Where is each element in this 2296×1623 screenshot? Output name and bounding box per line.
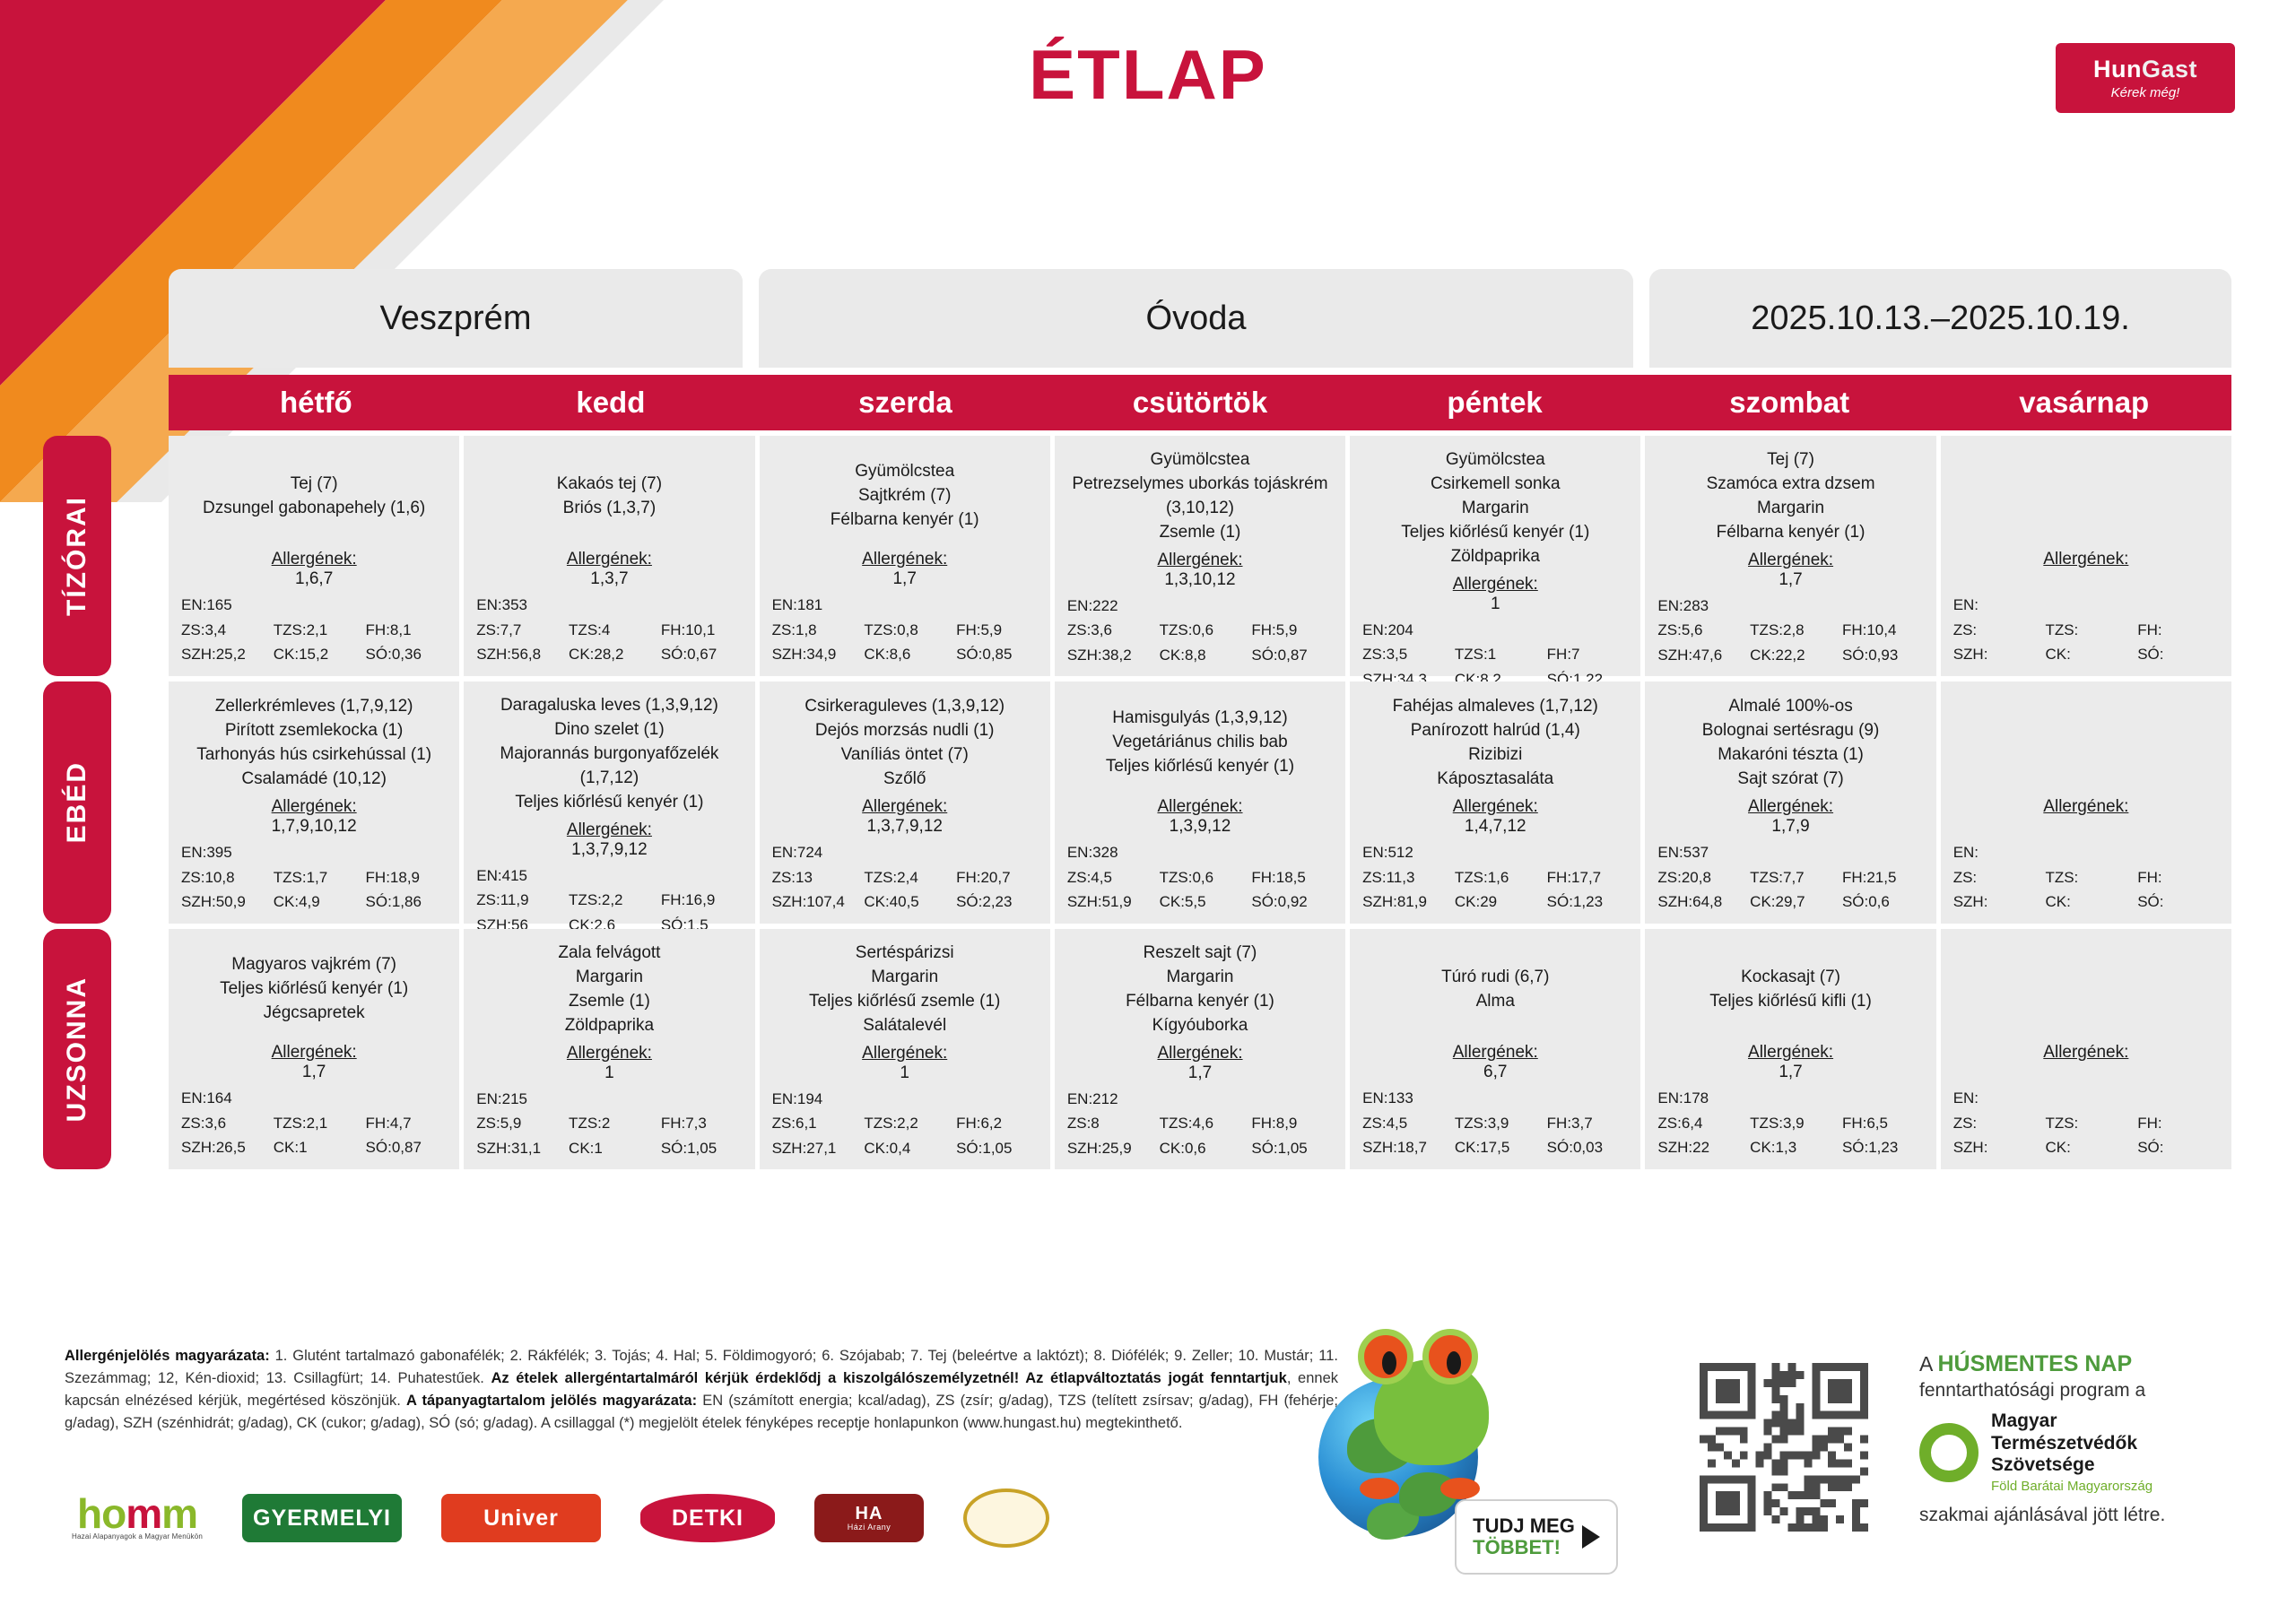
allergen-values: 1,3,7 — [471, 569, 747, 589]
food-items: Zala felvágottMargarinZsemle (1)Zöldpapr… — [471, 942, 747, 1044]
food-item: Almalé 100%-os — [1728, 695, 1852, 719]
food-items: Tej (7)Szamóca extra dzsemMargarinFélbar… — [1652, 448, 1928, 551]
food-item: Dino szelet (1) — [554, 718, 665, 742]
nutrition-values: EN:537ZS:20,8TZS:7,7FH:21,5SZH:64,8CK:29… — [1652, 840, 1928, 915]
nutrition-zs: ZS:3,6 — [176, 1111, 268, 1136]
nutrition-fh: FH:7 — [1542, 642, 1634, 667]
food-item: Teljes kiőrlésű kenyér (1) — [1106, 755, 1294, 779]
allergen-label: Allergének: — [1357, 797, 1633, 817]
allergen-label: Allergének: — [1652, 797, 1928, 817]
meal-row-uzsonna: UZSONNAMagyaros vajkrém (7)Teljes kiőrlé… — [169, 929, 2231, 1169]
mtvsz-subtitle: Föld Barátai Magyarország — [1991, 1479, 2152, 1494]
menu-cell: SertéspárizsiMargarinTeljes kiőrlésű zse… — [760, 929, 1050, 1169]
nutrition-zs: ZS: — [1948, 1111, 2040, 1136]
nutrition-szh: SZH:38,2 — [1062, 643, 1154, 668]
nutrition-values: EN:165ZS:3,4TZS:2,1FH:8,1SZH:25,2CK:15,2… — [176, 593, 452, 667]
nutrition-en: EN: — [1948, 1086, 2224, 1111]
nutrition-ck: CK:1 — [268, 1135, 361, 1160]
food-item: Tej (7) — [1767, 448, 1814, 473]
nutrition-tzs: TZS:1,7 — [268, 865, 361, 890]
nutrition-tzs: TZS: — [2039, 618, 2132, 643]
nutrition-en: EN:212 — [1062, 1087, 1338, 1112]
nutrition-values: EN:178ZS:6,4TZS:3,9FH:6,5SZH:22CK:1,3SÓ:… — [1652, 1086, 1928, 1160]
nutrition-tzs: TZS:1 — [1449, 642, 1542, 667]
nutrition-ck: CK:1,3 — [1744, 1135, 1837, 1160]
allergen-values — [1948, 569, 2224, 589]
nutrition-tzs: TZS:2,2 — [563, 888, 656, 913]
food-items: Túró rudi (6,7)Alma — [1357, 942, 1633, 1043]
food-items: Hamisgulyás (1,3,9,12)Vegetáriánus chili… — [1062, 694, 1338, 797]
nutrition-zs: ZS: — [1948, 865, 2040, 890]
day-header-0: hétfő — [169, 375, 464, 430]
food-item: Teljes kiőrlésű kenyér (1) — [1401, 521, 1589, 545]
allergen-info: Allergének:1,3,7,9,12 — [471, 820, 747, 860]
allergen-values: 1,3,7,9,12 — [471, 840, 747, 860]
allergen-info: Allergének:1,7 — [176, 1043, 452, 1082]
meal-row-label-0: TÍZÓRAI — [43, 436, 111, 676]
food-item: Káposztasaláta — [1437, 768, 1553, 792]
nutrition-ck: CK:4,9 — [268, 890, 361, 915]
food-items: GyümölcsteaSajtkrém (7)Félbarna kenyér (… — [767, 448, 1043, 550]
nutrition-ck: CK:0,6 — [1154, 1136, 1247, 1161]
nutrition-tzs: TZS:0,8 — [858, 618, 951, 643]
nutrition-fh: FH:3,7 — [1542, 1111, 1634, 1136]
menu-cell: GyümölcsteaSajtkrém (7)Félbarna kenyér (… — [760, 436, 1050, 676]
food-item: Margarin — [1757, 497, 1824, 521]
hazi-arany-logo: HAHázi Arany — [814, 1494, 924, 1542]
nutrition-szh: SZH: — [1948, 642, 2040, 667]
nutrition-ck: CK:1 — [563, 1136, 656, 1161]
food-items: GyümölcsteaCsirkemell sonkaMargarinTelje… — [1357, 448, 1633, 575]
allergen-values: 1,3,9,12 — [1062, 817, 1338, 837]
allergen-values: 1,7 — [767, 569, 1043, 589]
food-items — [1948, 694, 2224, 797]
food-item: (3,10,12) — [1166, 497, 1234, 521]
nutrition-en: EN:181 — [767, 593, 1043, 618]
nutrition-ck: CK:40,5 — [858, 890, 951, 915]
nutrition-tzs: TZS:7,7 — [1744, 865, 1837, 890]
nutrition-szh: SZH:47,6 — [1652, 643, 1744, 668]
nutrition-fh: FH:7,3 — [656, 1111, 748, 1136]
allergen-info: Allergének:1,3,7,9,12 — [767, 797, 1043, 837]
nutrition-so: SÓ:0,6 — [1837, 890, 1929, 915]
allergen-values: 1,7,9,10,12 — [176, 817, 452, 837]
food-item: Gyümölcstea — [1446, 448, 1545, 473]
nutrition-values: EN:164ZS:3,6TZS:2,1FH:4,7SZH:26,5CK:1SÓ:… — [176, 1086, 452, 1160]
nutrition-so: SÓ:2,23 — [951, 890, 1043, 915]
nutrition-zs: ZS:8 — [1062, 1111, 1154, 1136]
nutrition-szh: SZH: — [1948, 890, 2040, 915]
allergen-info: Allergének:1,3,9,12 — [1062, 797, 1338, 837]
food-item: Dejós morzsás nudli (1) — [815, 719, 995, 743]
food-item: Csalamádé (10,12) — [241, 768, 387, 792]
allergen-label: Allergének: — [1062, 551, 1338, 570]
nutrition-ck: CK:8,8 — [1154, 643, 1247, 668]
nutrition-szh: SZH:64,8 — [1652, 890, 1744, 915]
ring-icon — [1919, 1423, 1979, 1482]
nutrition-szh: SZH:81,9 — [1357, 890, 1449, 915]
nutrition-values: EN:328ZS:4,5TZS:0,6FH:18,5SZH:51,9CK:5,5… — [1062, 840, 1338, 915]
mtvsz-name-line: Magyar — [1991, 1410, 2152, 1432]
nutrition-fh: FH: — [2132, 865, 2224, 890]
page-title: ÉTLAP — [0, 34, 2296, 116]
nutrition-szh: SZH:27,1 — [767, 1136, 859, 1161]
nutrition-fh: FH:21,5 — [1837, 865, 1929, 890]
nutrition-tzs: TZS:2,1 — [268, 618, 361, 643]
nutrition-en: EN:164 — [176, 1086, 452, 1111]
nutrition-fh: FH:5,9 — [951, 618, 1043, 643]
day-header-4: péntek — [1347, 375, 1642, 430]
food-item: Félbarna kenyér (1) — [1126, 990, 1274, 1014]
nutrition-so: SÓ: — [2132, 1135, 2224, 1160]
nutrition-zs: ZS:6,4 — [1652, 1111, 1744, 1136]
allergen-label: Allergének: — [1652, 1043, 1928, 1063]
nutrition-zs: ZS:3,4 — [176, 618, 268, 643]
allergen-label: Allergének: — [471, 1044, 747, 1063]
food-item: Sajtkrém (7) — [858, 484, 951, 508]
food-item: Zsemle (1) — [1160, 521, 1241, 545]
nutrition-so: SÓ:1,05 — [656, 1136, 748, 1161]
hungast-logo: HunGast Kérek még! — [2056, 43, 2235, 113]
food-item: Reszelt sajt (7) — [1144, 942, 1257, 966]
allergen-values: 1,4,7,12 — [1357, 817, 1633, 837]
nutrition-zs: ZS: — [1948, 618, 2040, 643]
day-header-6: vasárnap — [1936, 375, 2231, 430]
allergen-info: Allergének:1 — [1357, 575, 1633, 614]
menu-cell: Zellerkrémleves (1,7,9,12)Pirított zseml… — [169, 681, 459, 924]
food-item: Petrezselymes uborkás tojáskrém — [1072, 473, 1327, 497]
food-item: Alma — [1476, 990, 1515, 1014]
food-item: Teljes kiőrlésű kifli (1) — [1709, 990, 1872, 1014]
legend-nutrition-title: A tápanyagtartalom jelölés magyarázata: — [406, 1393, 697, 1409]
univer-logo: Univer — [441, 1494, 601, 1542]
food-item: Margarin — [576, 966, 643, 990]
learn-more-button[interactable]: TUDJ MEG TÖBBET! — [1455, 1499, 1618, 1575]
meatfree-title: A HÚSMENTES NAP — [1919, 1350, 2269, 1378]
meatfree-subtitle: fenntarthatósági program a — [1919, 1380, 2269, 1402]
allergen-info: Allergének:1 — [471, 1044, 747, 1083]
nutrition-en: EN:512 — [1357, 840, 1633, 865]
food-item: Csirkemell sonka — [1431, 473, 1561, 497]
food-item: Panírozott halrúd (1,4) — [1411, 719, 1580, 743]
food-item: Zellerkrémleves (1,7,9,12) — [215, 695, 413, 719]
nutrition-fh: FH:20,7 — [951, 865, 1043, 890]
nutrition-zs: ZS:10,8 — [176, 865, 268, 890]
food-item: Szőlő — [883, 768, 926, 792]
nutrition-ck: CK:28,2 — [563, 642, 656, 667]
menu-cell: Hamisgulyás (1,3,9,12)Vegetáriánus chili… — [1055, 681, 1345, 924]
allergen-values: 1 — [1357, 595, 1633, 614]
allergen-info: Allergének: — [1948, 1043, 2224, 1082]
nutrition-fh: FH:8,1 — [361, 618, 453, 643]
nutrition-fh: FH:6,2 — [951, 1111, 1043, 1136]
day-header-row: hétfőkeddszerdacsütörtökpéntekszombatvas… — [169, 375, 2231, 430]
day-header-2: szerda — [758, 375, 1053, 430]
menu-cell: Tej (7)Szamóca extra dzsemMargarinFélbar… — [1645, 436, 1935, 676]
nutrition-ck: CK:17,5 — [1449, 1135, 1542, 1160]
nutrition-en: EN:204 — [1357, 618, 1633, 643]
menu-info-bar: Veszprém Óvoda 2025.10.13.–2025.10.19. — [169, 269, 2231, 368]
nutrition-szh: SZH:25,9 — [1062, 1136, 1154, 1161]
detki-logo: DETKI — [640, 1494, 775, 1542]
allergen-values: 1,6,7 — [176, 569, 452, 589]
nutrition-values: EN:283ZS:5,6TZS:2,8FH:10,4SZH:47,6CK:22,… — [1652, 594, 1928, 668]
allergen-values: 1,3,10,12 — [1062, 570, 1338, 590]
allergen-info: Allergének: — [1948, 550, 2224, 589]
nutrition-tzs: TZS: — [2039, 865, 2132, 890]
allergen-label: Allergének: — [1948, 797, 2224, 817]
nutrition-fh: FH:10,1 — [656, 618, 748, 643]
allergen-info: Allergének:1,7 — [1652, 551, 1928, 590]
nutrition-szh: SZH:22 — [1652, 1135, 1744, 1160]
allergen-values: 1,3,7,9,12 — [767, 817, 1043, 837]
nutrition-so: SÓ:0,93 — [1837, 643, 1929, 668]
nutrition-fh: FH:4,7 — [361, 1111, 453, 1136]
nutrition-en: EN: — [1948, 593, 2224, 618]
food-item: Bolognai sertésragu (9) — [1702, 719, 1880, 743]
nutrition-szh: SZH:50,9 — [176, 890, 268, 915]
allergen-label: Allergének: — [471, 820, 747, 840]
food-item: Gyümölcstea — [855, 460, 954, 484]
nutrition-tzs: TZS:0,6 — [1154, 618, 1247, 643]
nutrition-so: SÓ:0,85 — [951, 642, 1043, 667]
menu-cell: Kockasajt (7)Teljes kiőrlésű kifli (1)Al… — [1645, 929, 1935, 1169]
qr-code[interactable] — [1700, 1363, 1868, 1532]
meal-row-ebéd: EBÉDZellerkrémleves (1,7,9,12)Pirított z… — [169, 681, 2231, 924]
nutrition-fh: FH:17,7 — [1542, 865, 1634, 890]
food-items: Reszelt sajt (7)MargarinFélbarna kenyér … — [1062, 942, 1338, 1044]
allergen-values: 1,7 — [1652, 1063, 1928, 1082]
nutrition-so: SÓ:0,87 — [1246, 643, 1338, 668]
nutrition-tzs: TZS:2,4 — [858, 865, 951, 890]
food-item: Salátalevél — [863, 1014, 946, 1038]
food-item: Félbarna kenyér (1) — [831, 508, 979, 533]
nutrition-so: SÓ:1,23 — [1837, 1135, 1929, 1160]
nutrition-fh: FH:18,5 — [1246, 865, 1338, 890]
nutrition-so: SÓ:0,36 — [361, 642, 453, 667]
hungast-logo-tagline: Kérek még! — [2111, 86, 2180, 100]
nutrition-values: EN:512ZS:11,3TZS:1,6FH:17,7SZH:81,9CK:29… — [1357, 840, 1633, 915]
allergen-label: Allergének: — [1357, 1043, 1633, 1063]
allergen-values: 6,7 — [1357, 1063, 1633, 1082]
food-item: Pirított zsemlekocka (1) — [225, 719, 404, 743]
food-item: Magyaros vajkrém (7) — [231, 953, 396, 977]
allergen-info: Allergének:1,3,10,12 — [1062, 551, 1338, 590]
nutrition-values: EN:215ZS:5,9TZS:2FH:7,3SZH:31,1CK:1SÓ:1,… — [471, 1087, 747, 1161]
menu-cell: Almalé 100%-osBolognai sertésragu (9)Mak… — [1645, 681, 1935, 924]
menu-cell: GyümölcsteaPetrezselymes uborkás tojáskr… — [1055, 436, 1345, 676]
allergen-info: Allergének:1,7 — [767, 550, 1043, 589]
nutrition-fh: FH:18,9 — [361, 865, 453, 890]
nutrition-tzs: TZS:2,8 — [1744, 618, 1837, 643]
food-item: Briós (1,3,7) — [563, 497, 656, 521]
institution-box: Óvoda — [759, 269, 1633, 368]
nutrition-en: EN:283 — [1652, 594, 1928, 619]
food-item: Zöldpaprika — [1451, 545, 1540, 569]
homm-logo-subtext: Hazai Alapanyagok a Magyar Menükön — [72, 1532, 203, 1541]
allergen-values: 1,7 — [176, 1063, 452, 1082]
nutrition-so: SÓ:0,03 — [1542, 1135, 1634, 1160]
allergen-values: 1 — [471, 1063, 747, 1083]
allergen-label: Allergének: — [176, 1043, 452, 1063]
allergen-label: Allergének: — [176, 797, 452, 817]
nutrition-values: EN:ZS:TZS:FH:SZH:CK:SÓ: — [1948, 1086, 2224, 1160]
allergen-info: Allergének:1,7 — [1652, 1043, 1928, 1082]
allergen-info: Allergének:1,7,9,10,12 — [176, 797, 452, 837]
food-item: Daragaluska leves (1,3,9,12) — [500, 694, 718, 718]
nutrition-values: EN:181ZS:1,8TZS:0,8FH:5,9SZH:34,9CK:8,6S… — [767, 593, 1043, 667]
nutrition-zs: ZS:3,5 — [1357, 642, 1449, 667]
nutrition-values: EN:353ZS:7,7TZS:4FH:10,1SZH:56,8CK:28,2S… — [471, 593, 747, 667]
learn-more-line1: TUDJ MEG — [1473, 1515, 1575, 1537]
hungast-logo-name: HunGast — [2093, 57, 2197, 82]
meal-row-label-2: UZSONNA — [43, 929, 111, 1169]
food-item: Hamisgulyás (1,3,9,12) — [1112, 707, 1287, 731]
nutrition-zs: ZS:1,8 — [767, 618, 859, 643]
mtvsz-name-line: Szövetsége — [1991, 1454, 2152, 1476]
nutrition-tzs: TZS:3,9 — [1449, 1111, 1542, 1136]
nutrition-ck: CK:29,7 — [1744, 890, 1837, 915]
allergen-label: Allergének: — [767, 1044, 1043, 1063]
food-item: Teljes kiőrlésű kenyér (1) — [220, 977, 408, 1002]
nutrition-en: EN:222 — [1062, 594, 1338, 619]
food-item: Rizibizi — [1468, 743, 1522, 768]
menu-cell: Allergének: EN:ZS:TZS:FH:SZH:CK:SÓ: — [1941, 929, 2231, 1169]
nutrition-values: EN:133ZS:4,5TZS:3,9FH:3,7SZH:18,7CK:17,5… — [1357, 1086, 1633, 1160]
nutrition-so: SÓ:1,05 — [951, 1136, 1043, 1161]
food-item: Makaróni tészta (1) — [1718, 743, 1864, 768]
nutrition-en: EN:165 — [176, 593, 452, 618]
allergen-info: Allergének:1 — [767, 1044, 1043, 1083]
meal-row-tízórai: TÍZÓRAITej (7)Dzsungel gabonapehely (1,6… — [169, 436, 2231, 676]
allergen-label: Allergének: — [176, 550, 452, 569]
food-items: Almalé 100%-osBolognai sertésragu (9)Mak… — [1652, 694, 1928, 797]
nutrition-so: SÓ:1,23 — [1542, 890, 1634, 915]
allergen-label: Allergének: — [1062, 1044, 1338, 1063]
nutrition-szh: SZH:107,4 — [767, 890, 859, 915]
nutrition-zs: ZS:20,8 — [1652, 865, 1744, 890]
nutrition-ck: CK:15,2 — [268, 642, 361, 667]
nutrition-zs: ZS:11,9 — [471, 888, 563, 913]
nutrition-ck: CK:22,2 — [1744, 643, 1837, 668]
allergen-info: Allergének:1,7 — [1062, 1044, 1338, 1083]
allergen-values: 1,7 — [1652, 570, 1928, 590]
nutrition-so: SÓ:1,05 — [1246, 1136, 1338, 1161]
food-item: Tej (7) — [291, 473, 338, 497]
nutrition-values: EN:194ZS:6,1TZS:2,2FH:6,2SZH:27,1CK:0,4S… — [767, 1087, 1043, 1161]
gyermelyi-logo: GYERMELYI — [242, 1494, 402, 1542]
food-item: Szamóca extra dzsem — [1707, 473, 1875, 497]
menu-cell: Fahéjas almaleves (1,7,12)Panírozott hal… — [1350, 681, 1640, 924]
menu-cell: Tej (7)Dzsungel gabonapehely (1,6)Allerg… — [169, 436, 459, 676]
food-items — [1948, 942, 2224, 1043]
allergen-info: Allergének: — [1948, 797, 2224, 837]
food-item: Fahéjas almaleves (1,7,12) — [1393, 695, 1598, 719]
food-item: (1,7,12) — [580, 767, 639, 791]
food-item: Margarin — [871, 966, 938, 990]
play-arrow-icon — [1582, 1525, 1600, 1549]
nutrition-szh: SZH:31,1 — [471, 1136, 563, 1161]
hungast-logo-hun: Hun — [2093, 56, 2142, 82]
meal-row-label-1: EBÉD — [43, 681, 111, 924]
food-item: Félbarna kenyér (1) — [1717, 521, 1865, 545]
nutrition-values: EN:ZS:TZS:FH:SZH:CK:SÓ: — [1948, 840, 2224, 915]
nutrition-en: EN:133 — [1357, 1086, 1633, 1111]
food-item: Vegetáriánus chilis bab — [1112, 731, 1287, 755]
allergen-label: Allergének: — [1062, 797, 1338, 817]
day-header-3: csütörtök — [1053, 375, 1348, 430]
food-item: Zöldpaprika — [565, 1014, 654, 1038]
nutrition-ck: CK:0,4 — [858, 1136, 951, 1161]
nutrition-tzs: TZS:2,1 — [268, 1111, 361, 1136]
nutrition-fh: FH:6,5 — [1837, 1111, 1929, 1136]
allergen-values: 1,7,9 — [1652, 817, 1928, 837]
menu-cell: Magyaros vajkrém (7)Teljes kiőrlésű keny… — [169, 929, 459, 1169]
food-items: Zellerkrémleves (1,7,9,12)Pirított zseml… — [176, 694, 452, 797]
food-item: Túró rudi (6,7) — [1441, 966, 1549, 990]
allergen-label: Allergének: — [1948, 1043, 2224, 1063]
nutrition-values: EN:724ZS:13TZS:2,4FH:20,7SZH:107,4CK:40,… — [767, 840, 1043, 915]
legend-allergen-title: Allergénjelölés magyarázata: — [65, 1348, 270, 1364]
food-item: Teljes kiőrlésű kenyér (1) — [515, 791, 703, 815]
menu-cell: Kakaós tej (7)Briós (1,3,7)Allergének:1,… — [464, 436, 754, 676]
allergen-label: Allergének: — [1357, 575, 1633, 595]
menu-cell: Allergének: EN:ZS:TZS:FH:SZH:CK:SÓ: — [1941, 436, 2231, 676]
allergen-values — [1948, 1063, 2224, 1082]
nutrition-szh: SZH:34,9 — [767, 642, 859, 667]
allergen-label: Allergének: — [471, 550, 747, 569]
nutrition-szh: SZH:18,7 — [1357, 1135, 1449, 1160]
menu-cell: Allergének: EN:ZS:TZS:FH:SZH:CK:SÓ: — [1941, 681, 2231, 924]
nutrition-tzs: TZS:3,9 — [1744, 1111, 1837, 1136]
food-item: Kakaós tej (7) — [557, 473, 662, 497]
food-item: Zala felvágott — [558, 942, 660, 966]
nutrition-szh: SZH:26,5 — [176, 1135, 268, 1160]
nutrition-ck: CK:29 — [1449, 890, 1542, 915]
nutrition-so: SÓ:0,92 — [1246, 890, 1338, 915]
menu-cell: Túró rudi (6,7)AlmaAllergének:6,7EN:133Z… — [1350, 929, 1640, 1169]
date-range-box: 2025.10.13.–2025.10.19. — [1649, 269, 2231, 368]
food-item: Vaníliás öntet (7) — [841, 743, 969, 768]
food-item: Majorannás burgonyafőzelék — [500, 742, 718, 767]
nutrition-zs: ZS:4,5 — [1357, 1111, 1449, 1136]
nutrition-fh: FH: — [2132, 618, 2224, 643]
food-item: Dzsungel gabonapehely (1,6) — [203, 497, 425, 521]
allergen-label: Allergének: — [1652, 551, 1928, 570]
meatfree-footer: szakmai ajánlásával jött létre. — [1919, 1505, 2269, 1526]
allergen-legend: Allergénjelölés magyarázata: 1. Glutént … — [65, 1345, 1338, 1435]
nutrition-en: EN:353 — [471, 593, 747, 618]
quality-seal-logo — [963, 1488, 1049, 1548]
food-items: Daragaluska leves (1,3,9,12)Dino szelet … — [471, 694, 747, 820]
homm-logo-text: homm — [77, 1496, 197, 1532]
food-items: Csirkeraguleves (1,3,9,12)Dejós morzsás … — [767, 694, 1043, 797]
sponsor-logo-row: homm Hazai Alapanyagok a Magyar Menükön … — [72, 1488, 1049, 1548]
nutrition-tzs: TZS:2,2 — [858, 1111, 951, 1136]
nutrition-en: EN:178 — [1652, 1086, 1928, 1111]
nutrition-szh: SZH:51,9 — [1062, 890, 1154, 915]
nutrition-zs: ZS:5,9 — [471, 1111, 563, 1136]
nutrition-en: EN:415 — [471, 864, 747, 889]
nutrition-en: EN:194 — [767, 1087, 1043, 1112]
allergen-label: Allergének: — [767, 550, 1043, 569]
nutrition-values: EN:212ZS:8TZS:4,6FH:8,9SZH:25,9CK:0,6SÓ:… — [1062, 1087, 1338, 1161]
food-items: GyümölcsteaPetrezselymes uborkás tojáskr… — [1062, 448, 1338, 551]
food-item: Kígyóuborka — [1152, 1014, 1248, 1038]
allergen-values — [1948, 817, 2224, 837]
food-item: Zsemle (1) — [569, 990, 650, 1014]
nutrition-tzs: TZS:1,6 — [1449, 865, 1542, 890]
